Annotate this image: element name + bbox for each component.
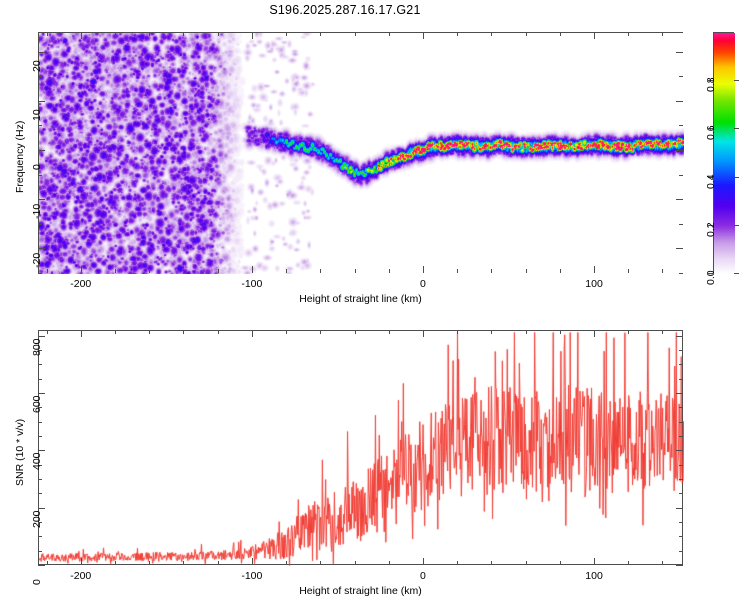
- yaxis-minor-tick: [38, 76, 42, 77]
- colorbar-tick-label: 0.6: [705, 126, 717, 141]
- xaxis-minor-tick: [526, 561, 527, 565]
- xaxis-minor-tick-top: [355, 330, 356, 334]
- colorbar-tick-label: 0.8: [705, 78, 717, 93]
- yaxis-tick-label: -10: [31, 204, 43, 219]
- yaxis-major-tick: [38, 336, 45, 337]
- xaxis-major-tick: [81, 266, 82, 273]
- xaxis-minor-tick: [115, 561, 116, 565]
- xaxis-minor-tick-top: [218, 32, 219, 36]
- xaxis-major-tick-top: [423, 32, 424, 39]
- xaxis-tick-label: -200: [57, 570, 105, 582]
- xaxis-major-tick: [423, 266, 424, 273]
- xaxis-minor-tick: [560, 269, 561, 273]
- yaxis-tick-label: 0: [31, 164, 43, 170]
- yaxis-major-tick-right: [676, 565, 683, 566]
- xaxis-major-tick-top: [252, 330, 253, 337]
- yaxis-major-tick-right: [676, 393, 683, 394]
- xaxis-minor-tick: [662, 269, 663, 273]
- yaxis-major-tick: [38, 199, 45, 200]
- xaxis-minor-tick: [218, 561, 219, 565]
- xaxis-minor-tick-top: [662, 32, 663, 36]
- xaxis-tick-label: 100: [570, 278, 618, 290]
- xaxis-minor-tick-top: [320, 32, 321, 36]
- xaxis-minor-tick: [355, 561, 356, 565]
- xaxis-minor-tick: [491, 561, 492, 565]
- xaxis-minor-tick: [628, 561, 629, 565]
- xaxis-minor-tick-top: [389, 330, 390, 334]
- xaxis-minor-tick-top: [286, 32, 287, 36]
- xaxis-major-tick-top: [423, 330, 424, 337]
- xaxis-major-tick: [81, 558, 82, 565]
- yaxis-minor-tick-right: [679, 364, 683, 365]
- yaxis-minor-tick-right: [679, 479, 683, 480]
- xaxis-tick-label: 0: [399, 278, 447, 290]
- xaxis-minor-tick: [320, 269, 321, 273]
- xaxis-major-tick: [594, 558, 595, 565]
- xaxis-minor-tick-top: [526, 32, 527, 36]
- xaxis-minor-tick-top: [115, 330, 116, 334]
- xaxis-minor-tick-top: [457, 330, 458, 334]
- xaxis-major-tick-top: [81, 32, 82, 39]
- yaxis-major-tick-right: [676, 336, 683, 337]
- xaxis-minor-tick: [286, 561, 287, 565]
- xaxis-minor-tick-top: [491, 330, 492, 334]
- xaxis-major-tick: [252, 266, 253, 273]
- xaxis-minor-tick-top: [149, 32, 150, 36]
- yaxis-major-tick: [38, 248, 45, 249]
- xaxis-minor-tick-top: [526, 330, 527, 334]
- yaxis-minor-tick: [38, 551, 42, 552]
- spectrogram-panel: [38, 32, 683, 273]
- yaxis-minor-tick: [38, 125, 42, 126]
- xaxis-minor-tick-top: [286, 330, 287, 334]
- yaxis-minor-tick-right: [679, 522, 683, 523]
- snr-xaxis-title: Height of straight line (km): [38, 585, 683, 597]
- xaxis-minor-tick-top: [491, 32, 492, 36]
- xaxis-minor-tick-top: [457, 32, 458, 36]
- xaxis-minor-tick: [218, 269, 219, 273]
- figure-title: S196.2025.287.16.17.G21: [0, 3, 690, 17]
- xaxis-minor-tick: [662, 561, 663, 565]
- xaxis-minor-tick-top: [560, 330, 561, 334]
- xaxis-major-tick-top: [594, 330, 595, 337]
- yaxis-tick-label: 200: [31, 510, 43, 528]
- yaxis-major-tick-right: [676, 450, 683, 451]
- xaxis-minor-tick: [149, 269, 150, 273]
- yaxis-major-tick: [38, 508, 45, 509]
- yaxis-minor-tick-right: [679, 536, 683, 537]
- xaxis-minor-tick-top: [115, 32, 116, 36]
- xaxis-minor-tick-top: [560, 32, 561, 36]
- snr-yaxis-title: SNR (10 * v/v): [14, 418, 26, 485]
- spectrogram-yaxis-title: Frequency (Hz): [14, 120, 26, 192]
- yaxis-major-tick: [38, 150, 45, 151]
- yaxis-minor-tick-right: [679, 436, 683, 437]
- snr-panel: [38, 330, 683, 565]
- xaxis-major-tick: [594, 266, 595, 273]
- xaxis-tick-label: 100: [570, 570, 618, 582]
- yaxis-minor-tick-right: [679, 273, 683, 274]
- xaxis-minor-tick-top: [47, 32, 48, 36]
- xaxis-minor-tick: [320, 561, 321, 565]
- yaxis-major-tick-right: [676, 150, 683, 151]
- yaxis-minor-tick: [38, 422, 42, 423]
- xaxis-minor-tick: [149, 561, 150, 565]
- xaxis-minor-tick-top: [320, 330, 321, 334]
- yaxis-major-tick: [38, 52, 45, 53]
- yaxis-tick-label: 800: [31, 338, 43, 356]
- yaxis-minor-tick-right: [679, 465, 683, 466]
- yaxis-major-tick-right: [676, 199, 683, 200]
- yaxis-major-tick-right: [676, 248, 683, 249]
- xaxis-minor-tick: [389, 561, 390, 565]
- xaxis-minor-tick-top: [183, 32, 184, 36]
- xaxis-minor-tick: [47, 561, 48, 565]
- xaxis-tick-label: -100: [228, 570, 276, 582]
- yaxis-minor-tick-right: [679, 422, 683, 423]
- colorbar-tick-right: [734, 273, 739, 274]
- spectrogram-image: [39, 33, 684, 274]
- yaxis-minor-tick-right: [679, 76, 683, 77]
- xaxis-minor-tick: [628, 269, 629, 273]
- yaxis-major-tick-right: [676, 508, 683, 509]
- xaxis-minor-tick-top: [47, 330, 48, 334]
- colorbar-gradient: [714, 33, 735, 274]
- xaxis-minor-tick-top: [628, 32, 629, 36]
- xaxis-minor-tick-top: [149, 330, 150, 334]
- snr-line-plot: [39, 331, 684, 566]
- colorbar-tick-label: 0.0: [705, 270, 717, 285]
- xaxis-minor-tick: [47, 269, 48, 273]
- yaxis-minor-tick-right: [679, 493, 683, 494]
- colorbar-tick-right: [734, 80, 739, 81]
- yaxis-major-tick: [38, 565, 45, 566]
- yaxis-minor-tick: [38, 175, 42, 176]
- yaxis-minor-tick: [38, 479, 42, 480]
- yaxis-minor-tick-right: [679, 175, 683, 176]
- xaxis-minor-tick-top: [218, 330, 219, 334]
- xaxis-minor-tick: [286, 269, 287, 273]
- yaxis-minor-tick: [38, 436, 42, 437]
- xaxis-minor-tick-top: [355, 32, 356, 36]
- xaxis-minor-tick: [389, 269, 390, 273]
- colorbar-tick-label: 0.2: [705, 222, 717, 237]
- xaxis-major-tick: [423, 558, 424, 565]
- xaxis-minor-tick: [560, 561, 561, 565]
- xaxis-minor-tick-top: [389, 32, 390, 36]
- xaxis-tick-label: 0: [399, 570, 447, 582]
- yaxis-minor-tick-right: [679, 407, 683, 408]
- xaxis-tick-label: -100: [228, 278, 276, 290]
- yaxis-minor-tick: [38, 273, 42, 274]
- yaxis-minor-tick-right: [679, 125, 683, 126]
- yaxis-minor-tick-right: [679, 551, 683, 552]
- yaxis-minor-tick: [38, 379, 42, 380]
- yaxis-minor-tick-right: [679, 224, 683, 225]
- yaxis-minor-tick: [38, 364, 42, 365]
- yaxis-minor-tick: [38, 536, 42, 537]
- xaxis-minor-tick: [526, 269, 527, 273]
- xaxis-minor-tick: [491, 269, 492, 273]
- yaxis-major-tick-right: [676, 101, 683, 102]
- xaxis-minor-tick: [457, 269, 458, 273]
- xaxis-major-tick-top: [252, 32, 253, 39]
- yaxis-major-tick-right: [676, 52, 683, 53]
- yaxis-minor-tick: [38, 493, 42, 494]
- xaxis-tick-label: -200: [57, 278, 105, 290]
- xaxis-major-tick-top: [81, 330, 82, 337]
- yaxis-tick-label: -20: [31, 253, 43, 268]
- xaxis-major-tick: [252, 558, 253, 565]
- xaxis-minor-tick: [183, 269, 184, 273]
- xaxis-minor-tick-top: [628, 330, 629, 334]
- figure-canvas: S196.2025.287.16.17.G21 -200-1000100-20-…: [0, 0, 750, 600]
- yaxis-major-tick: [38, 393, 45, 394]
- yaxis-major-tick: [38, 101, 45, 102]
- colorbar-tick-right: [734, 177, 739, 178]
- xaxis-minor-tick-top: [662, 330, 663, 334]
- xaxis-minor-tick: [355, 269, 356, 273]
- yaxis-tick-label: 20: [31, 60, 43, 72]
- yaxis-tick-label: 10: [31, 109, 43, 121]
- yaxis-tick-label: 600: [31, 396, 43, 414]
- yaxis-tick-label: 400: [31, 453, 43, 471]
- xaxis-minor-tick: [457, 561, 458, 565]
- xaxis-minor-tick: [115, 269, 116, 273]
- xaxis-major-tick-top: [594, 32, 595, 39]
- xaxis-minor-tick-top: [183, 330, 184, 334]
- spectrogram-xaxis-title: Height of straight line (km): [38, 293, 683, 305]
- colorbar-tick-label: 0.4: [705, 174, 717, 189]
- xaxis-minor-tick: [183, 561, 184, 565]
- colorbar-tick-right: [734, 225, 739, 226]
- yaxis-minor-tick: [38, 224, 42, 225]
- yaxis-minor-tick-right: [679, 379, 683, 380]
- yaxis-minor-tick-right: [679, 350, 683, 351]
- colorbar-tick-right: [734, 128, 739, 129]
